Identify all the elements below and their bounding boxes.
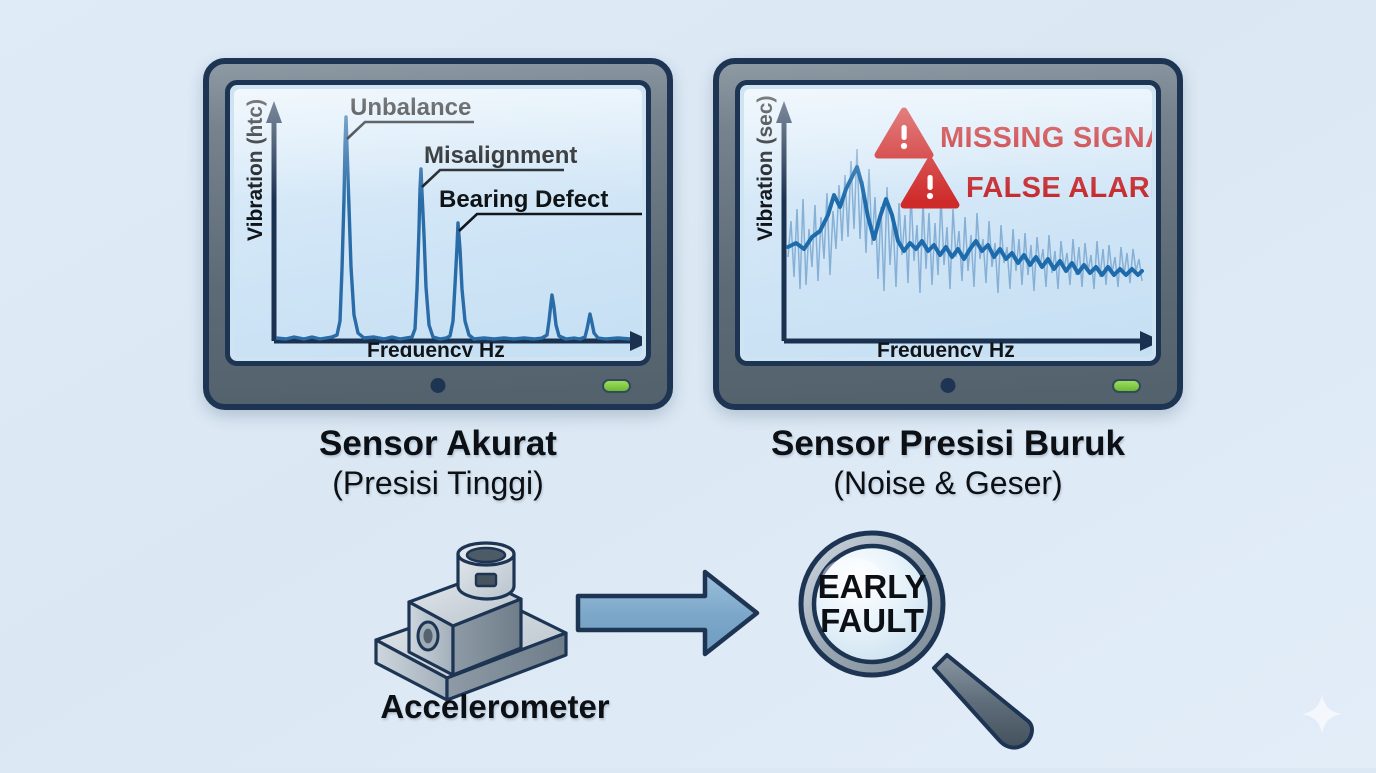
caption-title-left: Sensor Akurat <box>203 424 673 463</box>
status-led-left <box>602 379 631 393</box>
caption-accurate-sensor: Sensor Akurat (Presisi Tinggi) <box>203 424 673 502</box>
diagram-canvas: Unbalance Misalignment Bearing Defect Vi… <box>0 0 1376 768</box>
accelerometer-label: Accelerometer <box>295 688 695 726</box>
chart-noisy-spectrum: MISSING SIGNAL FALSE ALARM Vibration (se… <box>744 89 1152 357</box>
alert-label-false-alarm: FALSE ALARM <box>966 172 1152 204</box>
warning-triangle-icon <box>878 111 930 155</box>
right-arrow-icon <box>578 572 757 768</box>
alert-false-alarm: FALSE ALARM <box>904 161 1152 205</box>
caption-subtitle-right: (Noise & Geser) <box>713 465 1183 502</box>
caption-subtitle-left: (Presisi Tinggi) <box>203 465 673 502</box>
callout-label-unbalance: Unbalance <box>350 94 471 121</box>
home-button-left[interactable] <box>431 378 446 393</box>
alert-missing-signal: MISSING SIGNAL <box>878 111 1152 155</box>
chart-accurate-spectrum: Unbalance Misalignment Bearing Defect Vi… <box>234 89 642 357</box>
y-axis-label-right: Vibration (sec) <box>754 96 777 241</box>
screen-left: Unbalance Misalignment Bearing Defect Vi… <box>234 89 642 357</box>
device-poor-precision-sensor: MISSING SIGNAL FALSE ALARM Vibration (se… <box>713 58 1183 410</box>
screen-frame-right: MISSING SIGNAL FALSE ALARM Vibration (se… <box>735 80 1161 366</box>
callout-misalignment: Misalignment <box>422 142 577 187</box>
screen-frame-left: Unbalance Misalignment Bearing Defect Vi… <box>225 80 651 366</box>
magnifier-label-line1: EARLY <box>818 568 927 605</box>
bottom-flow-row: EARLY FAULT Accelerometer <box>0 528 1376 768</box>
device-chin-left <box>225 366 651 412</box>
sparkle-icon <box>1300 692 1344 736</box>
x-axis-label-right: Frequency Hz <box>877 339 1015 357</box>
callout-unbalance: Unbalance <box>347 94 474 139</box>
warning-triangle-icon <box>904 161 956 205</box>
status-led-right <box>1112 379 1141 393</box>
x-axis-label-left: Frequency Hz <box>367 339 505 357</box>
magnifier-icon: EARLY FAULT <box>801 533 1032 748</box>
screen-right: MISSING SIGNAL FALSE ALARM Vibration (se… <box>744 89 1152 357</box>
callout-bearing-defect: Bearing Defect <box>439 186 642 231</box>
caption-title-right: Sensor Presisi Buruk <box>713 424 1183 463</box>
magnifier-label-line2: FAULT <box>820 602 924 639</box>
bottom-flow-graphic: EARLY FAULT <box>0 528 1376 768</box>
callout-label-misalignment: Misalignment <box>424 142 577 169</box>
device-chin-right <box>735 366 1161 412</box>
caption-poor-precision-sensor: Sensor Presisi Buruk (Noise & Geser) <box>713 424 1183 502</box>
home-button-right[interactable] <box>941 378 956 393</box>
alert-label-missing-signal: MISSING SIGNAL <box>940 122 1152 154</box>
callout-label-bearing-defect: Bearing Defect <box>439 186 608 213</box>
device-accurate-sensor: Unbalance Misalignment Bearing Defect Vi… <box>203 58 673 410</box>
accelerometer-icon <box>376 543 566 700</box>
y-axis-label-left: Vibration (htc) <box>244 99 267 241</box>
